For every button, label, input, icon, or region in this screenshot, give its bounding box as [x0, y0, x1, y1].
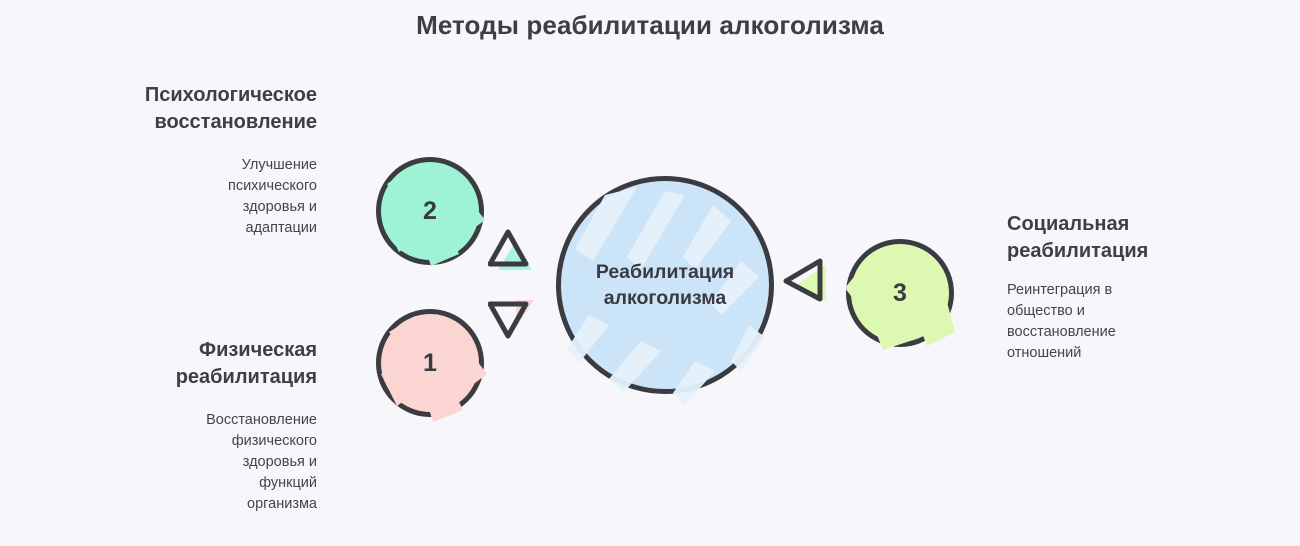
block-heading-physical: Физическая реабилитация [40, 337, 317, 390]
block-body-social: Реинтеграция в общество и восстановление… [1007, 280, 1257, 364]
triangle-up-arrow [488, 226, 536, 274]
center-node-rehabilitation[interactable]: Реабилитация алкоголизма [556, 176, 774, 394]
node-2-number: 2 [423, 197, 437, 226]
node-1-number: 1 [423, 349, 437, 378]
block-heading-social: Социальная реабилитация [1007, 211, 1257, 264]
text-block-social: Социальная реабилитация Реинтеграция в о… [1007, 211, 1257, 364]
block-heading-psychological: Психологическое восстановление [40, 82, 317, 135]
text-block-psychological: Психологическое восстановление Улучшение… [40, 82, 317, 239]
center-node-label: Реабилитация алкоголизма [596, 259, 734, 312]
text-block-physical: Физическая реабилитация Восстановление ф… [40, 337, 317, 515]
block-body-psychological: Улучшение психического здоровья и адапта… [40, 155, 317, 239]
triangle-left-arrow [780, 255, 836, 311]
page-title: Методы реабилитации алкоголизма [0, 10, 1300, 41]
node-3-number: 3 [893, 279, 907, 308]
node-circle-3[interactable]: 3 [846, 239, 954, 347]
infographic-canvas: Методы реабилитации алкоголизма Психолог… [0, 0, 1300, 546]
block-body-physical: Восстановление физического здоровья и фу… [40, 410, 317, 514]
node-circle-2[interactable]: 2 [376, 157, 484, 265]
node-circle-1[interactable]: 1 [376, 309, 484, 417]
triangle-down-arrow [488, 296, 536, 344]
